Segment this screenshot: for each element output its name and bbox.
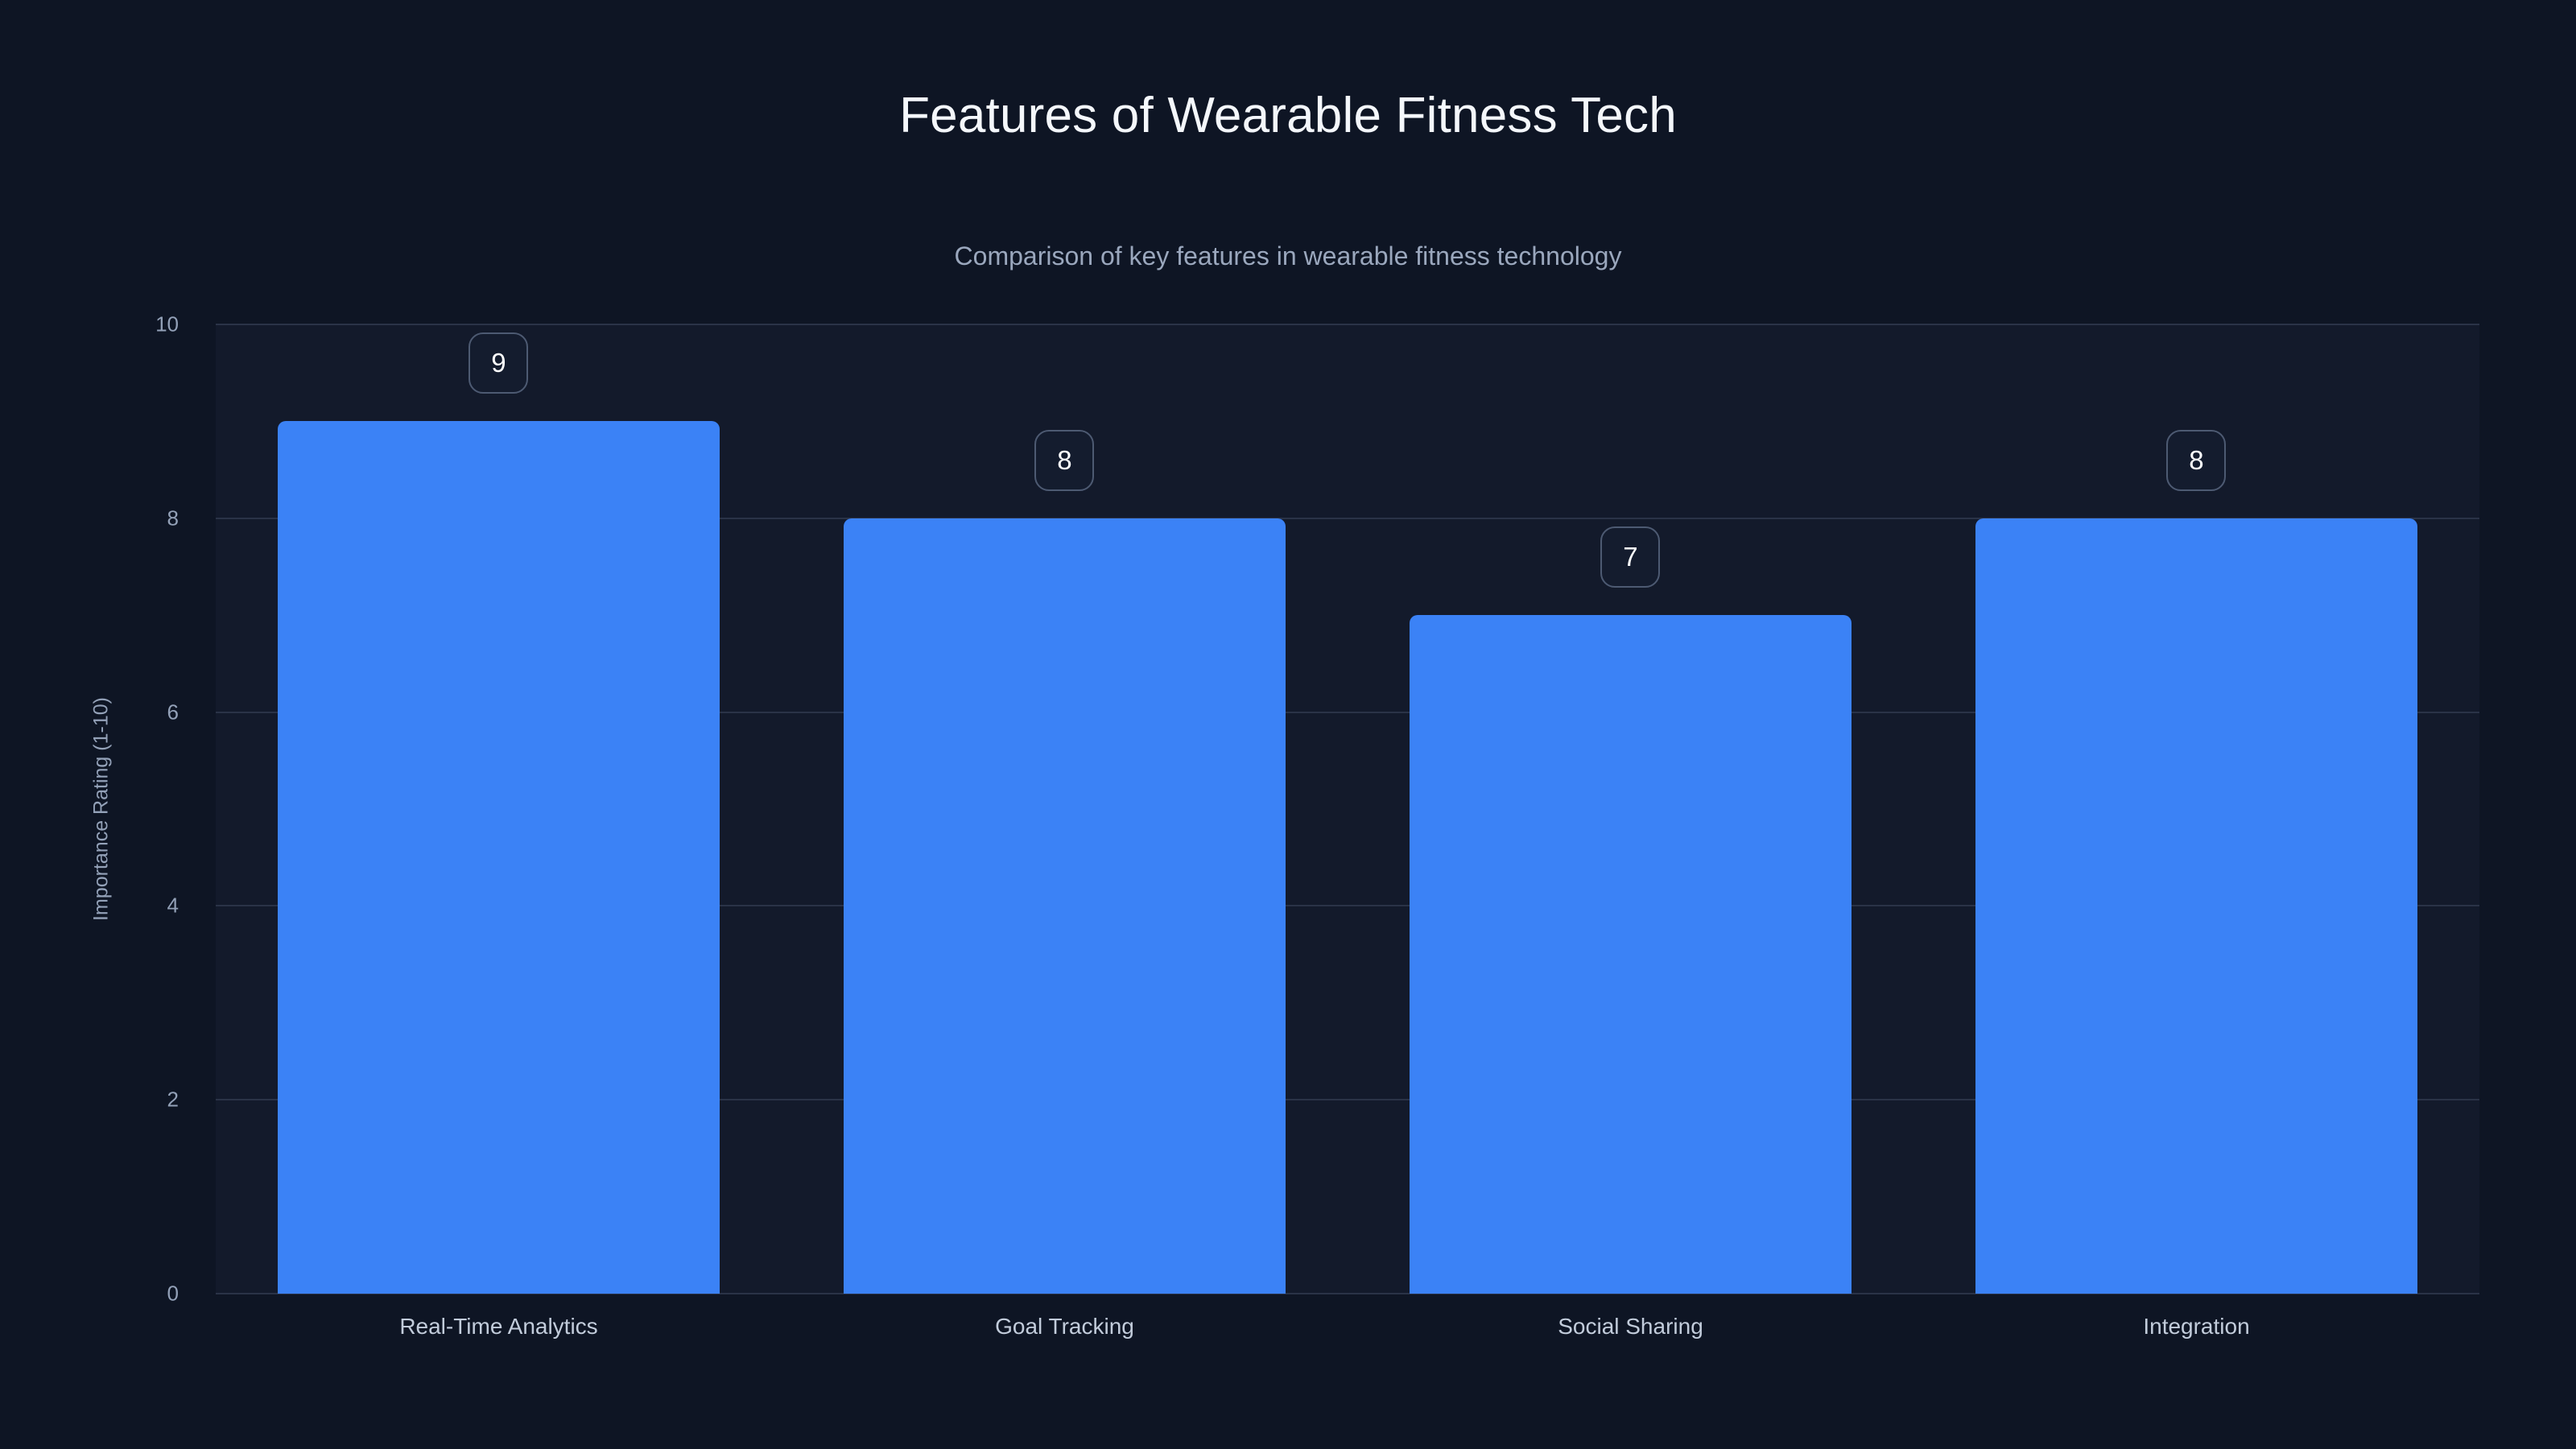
- y-axis-tick-label: 6: [167, 700, 179, 724]
- bar-value-label: 7: [1600, 526, 1660, 588]
- bar-slot: 9: [278, 324, 719, 1294]
- x-axis-category-label: Integration: [2143, 1314, 2249, 1340]
- bar-value-label: 9: [469, 332, 528, 394]
- chart-title: Features of Wearable Fitness Tech: [0, 87, 2576, 144]
- bar-chart-canvas: Features of Wearable Fitness Tech Compar…: [0, 0, 2576, 1449]
- y-axis-tick-labels: 0246810: [0, 324, 200, 1294]
- y-axis-tick-label: 8: [167, 506, 179, 530]
- bar-slot: 8: [844, 324, 1285, 1294]
- x-axis-category-label: Social Sharing: [1558, 1314, 1703, 1340]
- bar-slot: 8: [1975, 324, 2417, 1294]
- y-axis-tick-label: 4: [167, 894, 179, 919]
- bar[interactable]: [278, 421, 719, 1294]
- y-axis-tick-label: 0: [167, 1282, 179, 1307]
- bar[interactable]: [1975, 518, 2417, 1294]
- y-axis-tick-label: 10: [155, 312, 179, 337]
- bar-value-label: 8: [2166, 430, 2226, 491]
- chart-subtitle: Comparison of key features in wearable f…: [0, 242, 2576, 271]
- x-axis-category-label: Real-Time Analytics: [399, 1314, 597, 1340]
- bar[interactable]: [844, 518, 1285, 1294]
- bars-group: 9878: [216, 324, 2479, 1294]
- bar[interactable]: [1410, 615, 1851, 1294]
- bar-slot: 7: [1410, 324, 1851, 1294]
- y-axis-tick-label: 2: [167, 1088, 179, 1113]
- x-axis-category-label: Goal Tracking: [995, 1314, 1134, 1340]
- bar-value-label: 8: [1034, 430, 1094, 491]
